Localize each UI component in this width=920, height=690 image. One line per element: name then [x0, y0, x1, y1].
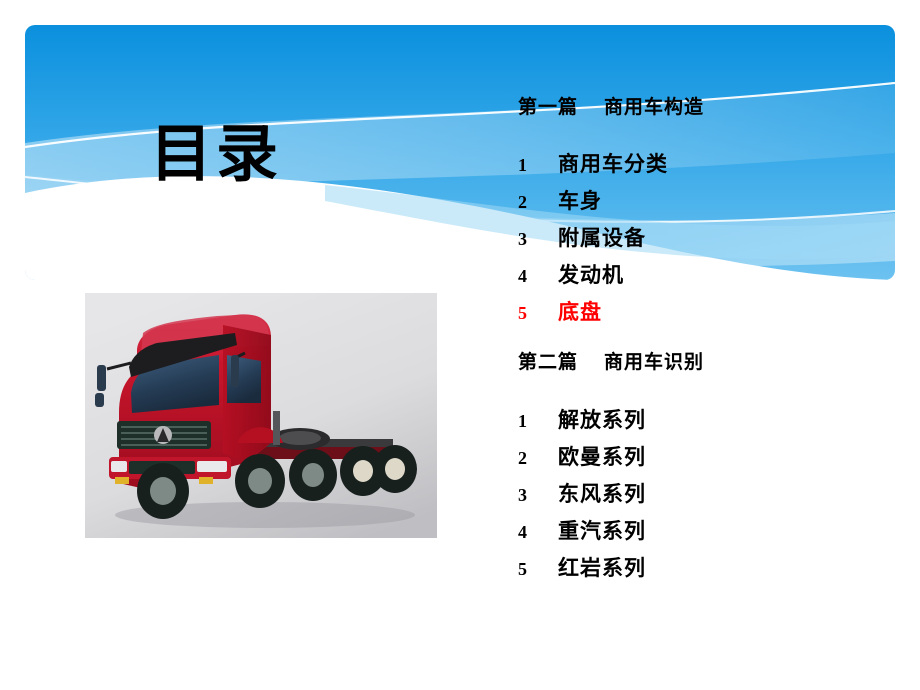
toc-item-1-1[interactable]: 1 商用车分类 — [518, 154, 668, 191]
toc-item-label: 重汽系列 — [558, 521, 646, 542]
toc-item-number: 4 — [518, 523, 558, 541]
toc-item-label: 东风系列 — [558, 484, 646, 505]
page-title: 目录 — [150, 124, 282, 186]
toc-item-1-4[interactable]: 4 发动机 — [518, 265, 668, 302]
toc-item-number: 2 — [518, 449, 558, 467]
toc-item-1-2[interactable]: 2 车身 — [518, 191, 668, 228]
toc-item-1-3[interactable]: 3 附属设备 — [518, 228, 668, 265]
toc-item-label: 底盘 — [558, 302, 602, 323]
toc-item-number: 1 — [518, 412, 558, 430]
toc-item-number: 4 — [518, 267, 558, 285]
presentation-slide: 目录 — [0, 0, 920, 690]
toc-item-number: 1 — [518, 156, 558, 174]
toc-item-label: 解放系列 — [558, 410, 646, 431]
toc-item-number: 3 — [518, 486, 558, 504]
toc-list-1: 1 商用车分类 2 车身 3 附属设备 4 发动机 5 底盘 — [518, 154, 668, 339]
toc-item-2-4[interactable]: 4 重汽系列 — [518, 521, 646, 558]
toc-item-2-1[interactable]: 1 解放系列 — [518, 410, 646, 447]
toc-item-label: 欧曼系列 — [558, 447, 646, 468]
toc-item-2-3[interactable]: 3 东风系列 — [518, 484, 646, 521]
toc-section-title-1: 商用车构造 — [604, 97, 704, 118]
toc-section-label-1: 第一篇 — [518, 97, 578, 118]
toc-item-2-2[interactable]: 2 欧曼系列 — [518, 447, 646, 484]
toc-list-2: 1 解放系列 2 欧曼系列 3 东风系列 4 重汽系列 5 红岩系列 — [518, 410, 646, 595]
toc-item-number: 5 — [518, 560, 558, 578]
toc-item-number: 5 — [518, 304, 558, 322]
toc-item-1-5[interactable]: 5 底盘 — [518, 302, 668, 339]
toc-item-label: 发动机 — [558, 265, 624, 286]
toc-item-label: 附属设备 — [558, 228, 646, 249]
toc-item-number: 3 — [518, 230, 558, 248]
toc-item-2-5[interactable]: 5 红岩系列 — [518, 558, 646, 595]
toc-item-label: 红岩系列 — [558, 558, 646, 579]
toc-item-label: 车身 — [558, 191, 602, 212]
toc-item-number: 2 — [518, 193, 558, 211]
red-commercial-truck-photo — [85, 293, 437, 538]
toc-section-label-2: 第二篇 — [518, 352, 578, 373]
toc-section-heading-2: 第二篇商用车识别 — [518, 353, 704, 372]
toc-section-heading-1: 第一篇商用车构造 — [518, 98, 704, 117]
toc-section-title-2: 商用车识别 — [604, 352, 704, 373]
toc-item-label: 商用车分类 — [558, 154, 668, 175]
